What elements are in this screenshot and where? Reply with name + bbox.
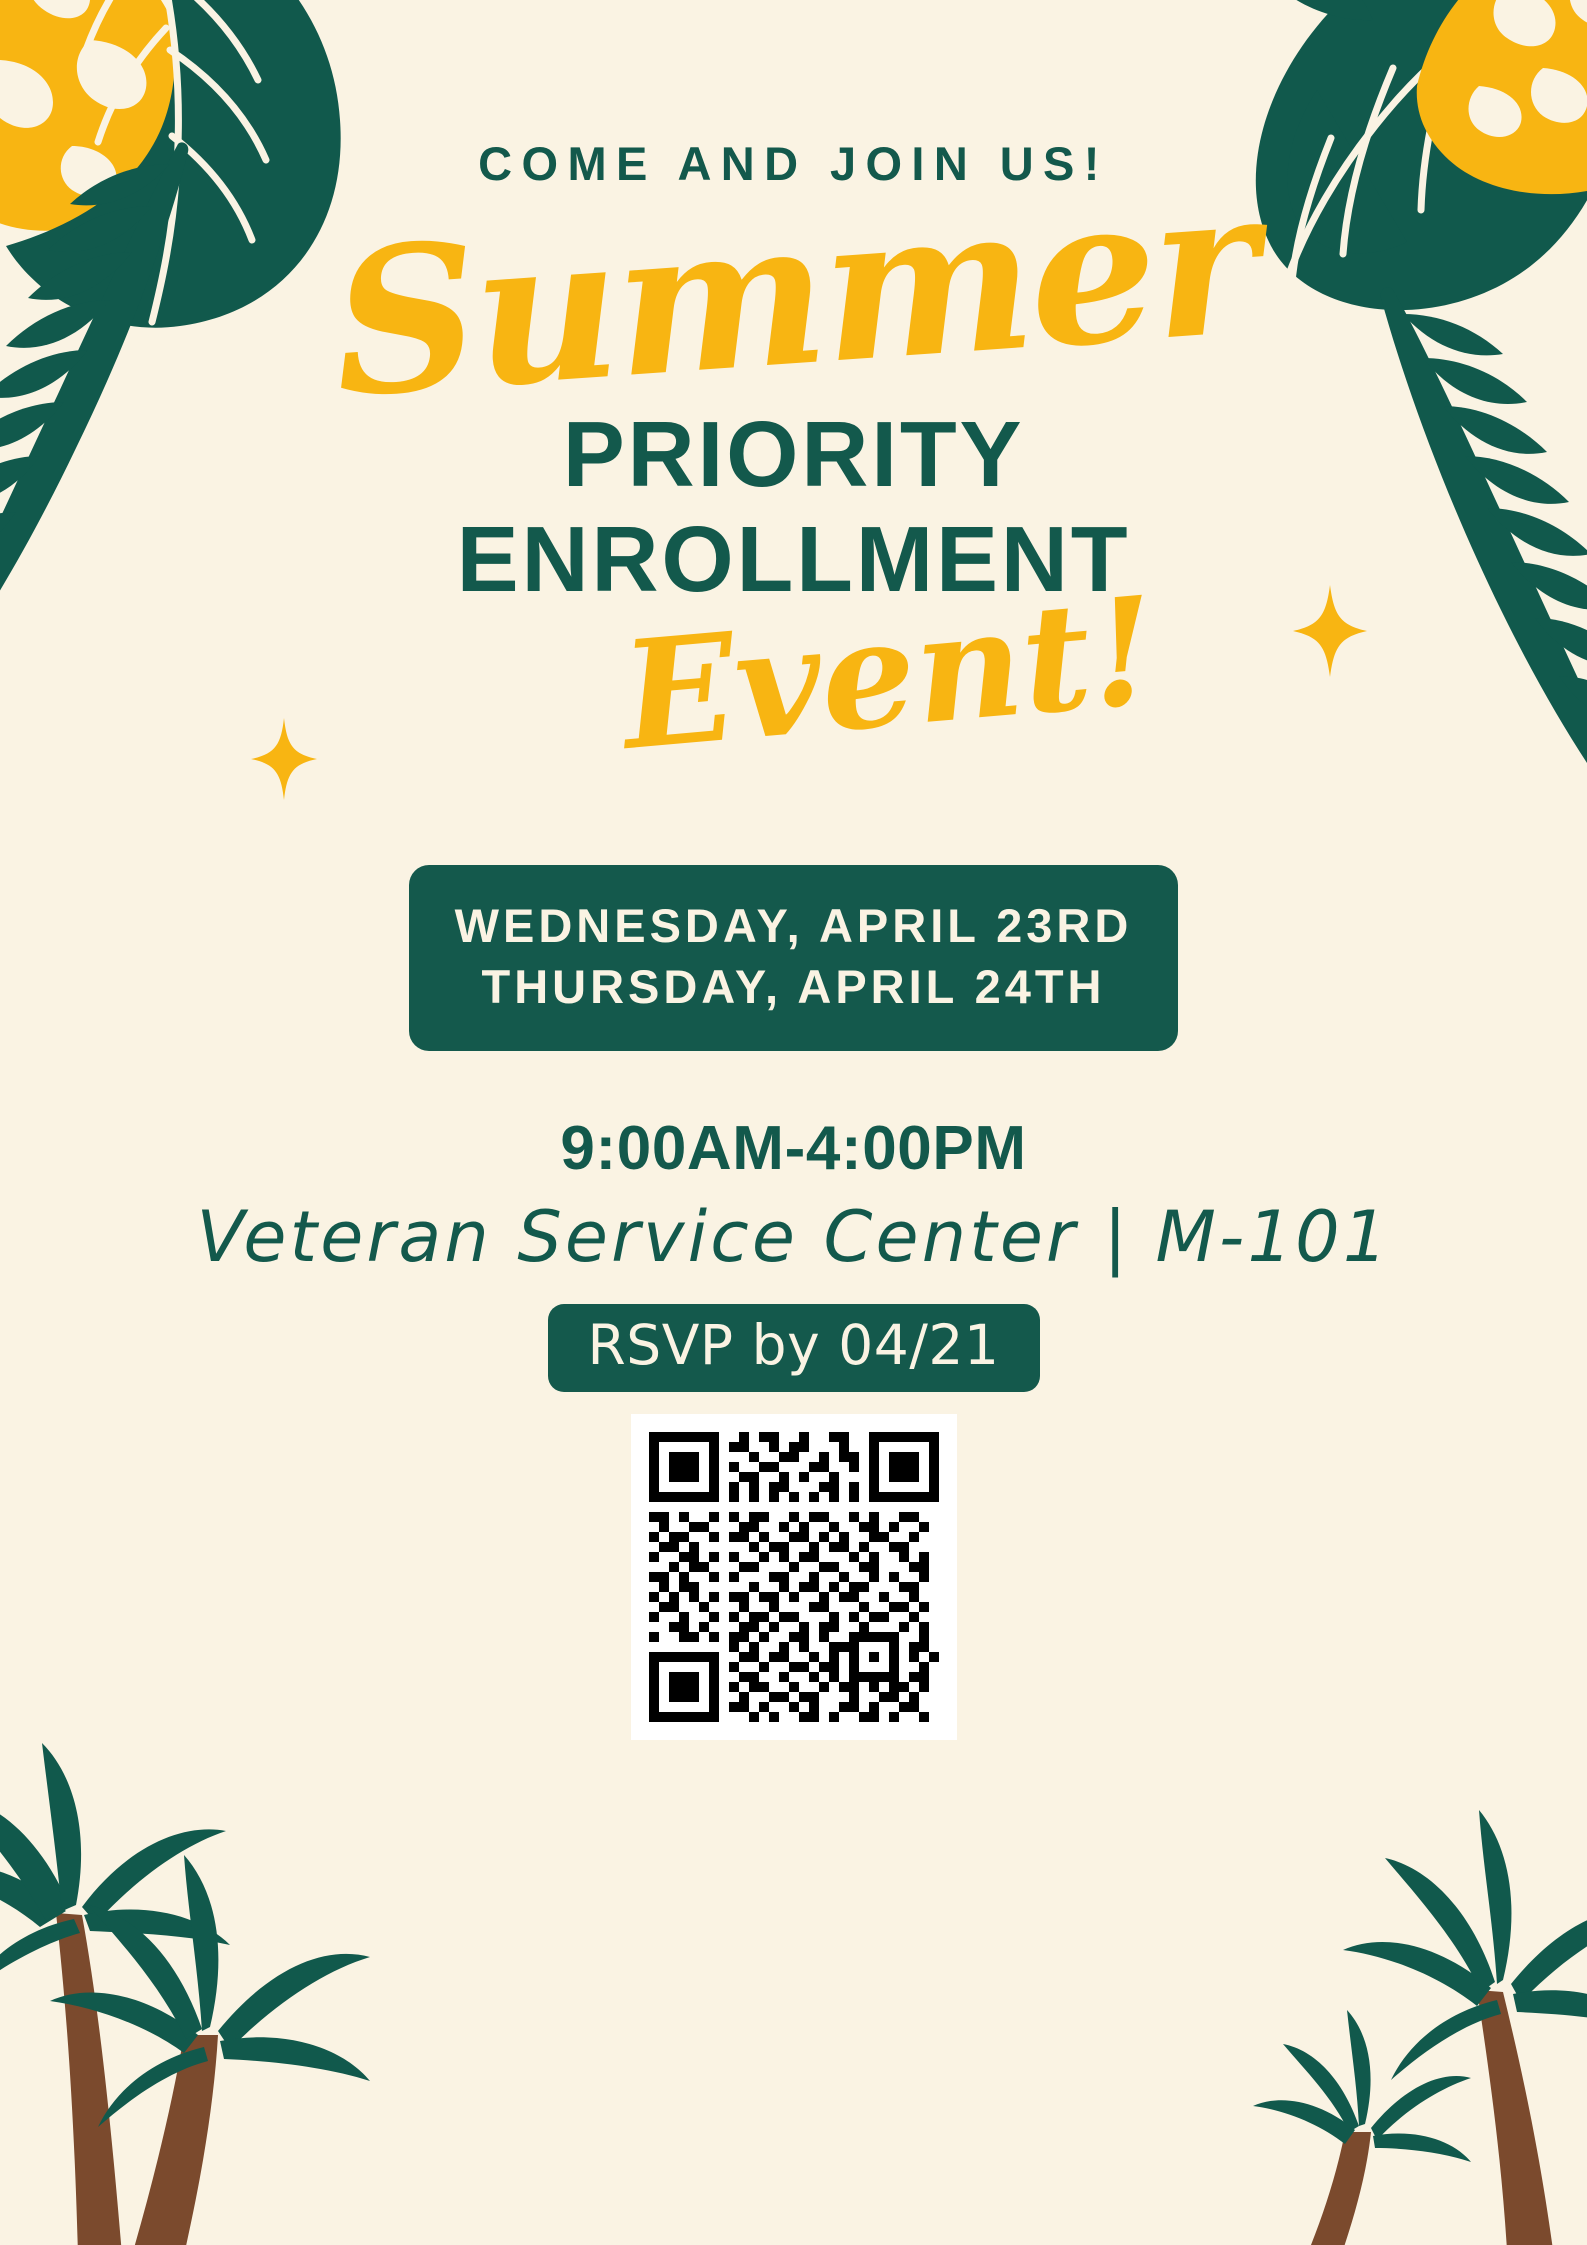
date-line-1: WEDNESDAY, APRIL 23RD [455, 895, 1133, 956]
qr-code[interactable] [631, 1414, 957, 1740]
event-location: Veteran Service Center | M-101 [196, 1196, 1390, 1278]
date-line-2: THURSDAY, APRIL 24TH [481, 956, 1105, 1017]
poster-canvas: COME AND JOIN US! Summer PRIORITY ENROLL… [0, 0, 1587, 2245]
rsvp-badge: RSVP by 04/21 [548, 1304, 1040, 1392]
event-time: 9:00AM-4:00PM [560, 1113, 1026, 1184]
title-script-event: Event! [616, 576, 1161, 770]
qr-code-image[interactable] [649, 1432, 939, 1722]
rsvp-label: RSVP by 04/21 [588, 1313, 1000, 1377]
date-box: WEDNESDAY, APRIL 23RD THURSDAY, APRIL 24… [409, 865, 1179, 1051]
title-script-summer: Summer [327, 167, 1260, 421]
